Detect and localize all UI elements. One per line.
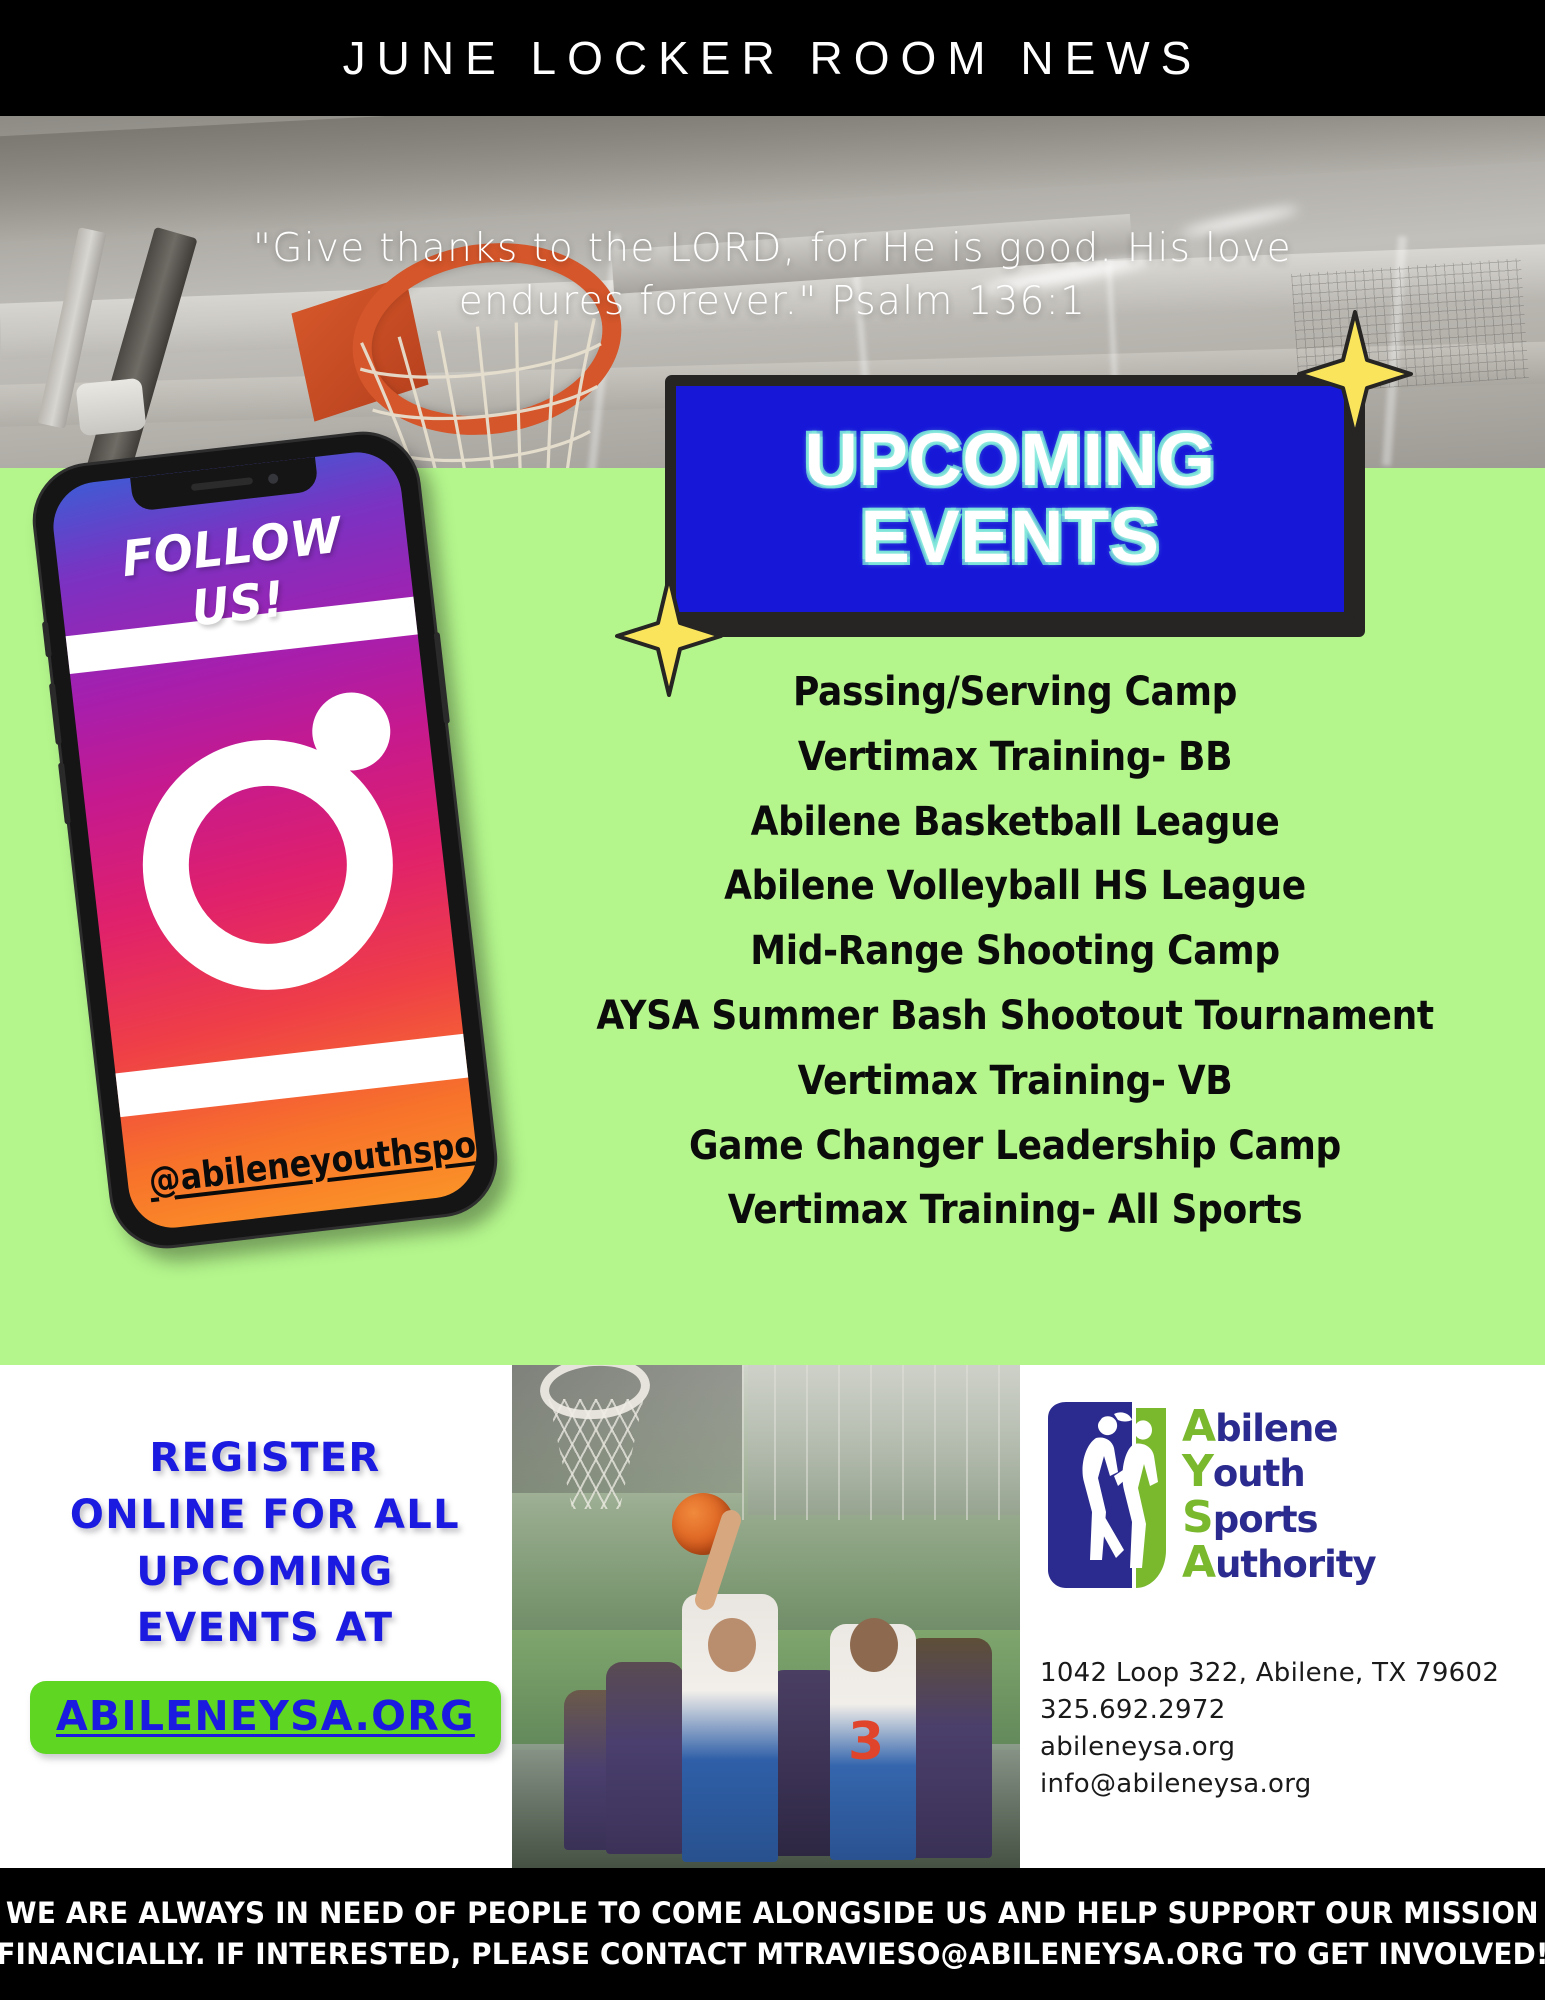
footer-line-1: WE ARE ALWAYS IN NEED OF PEOPLE TO COME … bbox=[6, 1893, 1539, 1934]
contact-email[interactable]: info@abileneysa.org bbox=[1040, 1766, 1510, 1803]
contact-address: 1042 Loop 322, Abilene, TX 79602 bbox=[1040, 1655, 1510, 1692]
sparkle-star-icon bbox=[615, 575, 723, 697]
event-list-item: AYSA Summer Bash Shootout Tournament bbox=[583, 984, 1447, 1049]
bottom-photo-basketball-game: 3 bbox=[512, 1365, 1020, 1868]
banner-title-line-2: EVENTS bbox=[860, 495, 1159, 578]
aysa-logo-letter: A bbox=[1182, 1404, 1215, 1449]
instagram-handle[interactable]: @abileneyouthsports bbox=[147, 1127, 458, 1203]
aysa-logo-word: uthority bbox=[1215, 1546, 1376, 1584]
aysa-logo-letter: A bbox=[1182, 1540, 1215, 1585]
phone-volume-up-button bbox=[49, 683, 62, 745]
aysa-runners-logo-icon bbox=[1040, 1400, 1170, 1590]
events-list: Passing/Serving Camp Vertimax Training- … bbox=[535, 660, 1495, 1243]
banner-title-line-1: UPCOMING bbox=[805, 418, 1216, 501]
aysa-logo-line: A bilene bbox=[1182, 1404, 1376, 1449]
photo-balcony-rail bbox=[742, 1365, 1020, 1520]
upcoming-events-banner: UPCOMING EVENTS bbox=[665, 375, 1377, 637]
aysa-logo-line: A uthority bbox=[1182, 1540, 1376, 1585]
instagram-phone-graphic: FOLLOW US! @abileneyouthsports bbox=[25, 425, 605, 1285]
register-line-3: UPCOMING bbox=[30, 1544, 500, 1601]
footer-line-2: FINANCIALLY. IF INTERESTED, PLEASE CONTA… bbox=[0, 1934, 1545, 1975]
event-list-item: Vertimax Training- VB bbox=[583, 1049, 1447, 1114]
contact-info: 1042 Loop 322, Abilene, TX 79602 325.692… bbox=[1040, 1655, 1510, 1803]
aysa-logo-letter: Y bbox=[1182, 1449, 1213, 1494]
quote-line-2: endures forever." Psalm 136:1 bbox=[120, 275, 1425, 328]
aysa-logo-word: ports bbox=[1213, 1501, 1318, 1539]
aysa-logo-wordmark: A bilene Y outh S ports A uthority bbox=[1182, 1400, 1376, 1585]
contact-website[interactable]: abileneysa.org bbox=[1040, 1729, 1510, 1766]
event-list-item: Vertimax Training- All Sports bbox=[583, 1178, 1447, 1243]
event-list-item: Game Changer Leadership Camp bbox=[583, 1114, 1447, 1179]
register-url-button[interactable]: ABILENEYSA.ORG bbox=[30, 1681, 501, 1754]
register-line-1: REGISTER bbox=[30, 1430, 500, 1487]
contact-phone[interactable]: 325.692.2972 bbox=[1040, 1692, 1510, 1729]
event-list-item: Mid-Range Shooting Camp bbox=[583, 919, 1447, 984]
instagram-icon-stripe-bottom bbox=[95, 1031, 482, 1119]
photo-player-figure bbox=[906, 1638, 992, 1858]
register-line-4: EVENTS AT bbox=[30, 1600, 500, 1657]
photo-player-figure bbox=[606, 1662, 684, 1854]
aysa-logo: A bilene Y outh S ports A uthority bbox=[1040, 1400, 1500, 1590]
photo-player-head bbox=[708, 1618, 756, 1672]
aysa-logo-line: S ports bbox=[1182, 1495, 1376, 1540]
photo-jersey-number: 3 bbox=[848, 1712, 884, 1772]
banner-box: UPCOMING EVENTS bbox=[665, 375, 1355, 623]
event-list-item: Vertimax Training- BB bbox=[583, 725, 1447, 790]
event-list-item: Abilene Basketball League bbox=[583, 790, 1447, 855]
page-title: JUNE LOCKER ROOM NEWS bbox=[343, 31, 1203, 85]
phone-mute-button bbox=[42, 621, 52, 657]
aysa-logo-line: Y outh bbox=[1182, 1449, 1376, 1494]
phone-volume-down-button bbox=[58, 762, 71, 824]
event-list-item: Abilene Volleyball HS League bbox=[583, 854, 1447, 919]
footer-bar: WE ARE ALWAYS IN NEED OF PEOPLE TO COME … bbox=[0, 1868, 1545, 2000]
top-header-bar: JUNE LOCKER ROOM NEWS bbox=[0, 0, 1545, 116]
phone-screen: FOLLOW US! @abileneyouthsports bbox=[49, 448, 482, 1233]
register-url-label: ABILENEYSA.ORG bbox=[56, 1692, 475, 1740]
phone-power-button bbox=[434, 632, 450, 724]
photo-player-head bbox=[850, 1618, 898, 1672]
phone-device: FOLLOW US! @abileneyouthsports bbox=[27, 425, 504, 1254]
aysa-logo-word: outh bbox=[1213, 1455, 1305, 1493]
register-column: REGISTER ONLINE FOR ALL UPCOMING EVENTS … bbox=[30, 1430, 500, 1754]
aysa-logo-word: bilene bbox=[1215, 1410, 1337, 1448]
register-line-2: ONLINE FOR ALL bbox=[30, 1487, 500, 1544]
aysa-logo-letter: S bbox=[1182, 1495, 1213, 1540]
register-heading: REGISTER ONLINE FOR ALL UPCOMING EVENTS … bbox=[30, 1430, 500, 1657]
quote-line-1: "Give thanks to the LORD, for He is good… bbox=[120, 222, 1425, 275]
sparkle-star-icon bbox=[1297, 310, 1413, 438]
banner-title: UPCOMING EVENTS bbox=[805, 422, 1216, 576]
